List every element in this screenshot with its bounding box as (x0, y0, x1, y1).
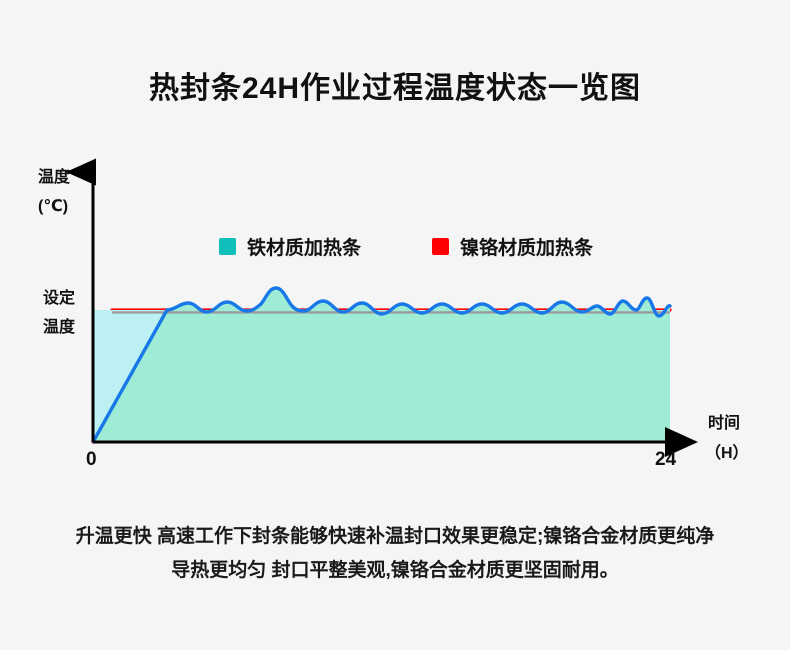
x-axis-label: 时间 (708, 413, 740, 432)
page-title: 热封条24H作业过程温度状态一览图 (0, 63, 790, 107)
legend-item-iron[interactable]: 铁材质加热条 (219, 236, 362, 259)
chart-plot-area: 温度 (℃) 设定 温度 0 24 时间 （H） 铁材质加热条 镍铬材质加热条 (0, 140, 790, 490)
legend-label-iron: 铁材质加热条 (247, 236, 362, 259)
legend-swatch-nichrome (432, 238, 449, 255)
legend-label-nichrome: 镍铬材质加热条 (460, 236, 594, 259)
legend-swatch-iron (219, 238, 236, 255)
temperature-chart-svg: 温度 (℃) 设定 温度 0 24 时间 （H） 铁材质加热条 镍铬材质加热条 (0, 140, 790, 490)
chart-caption: 升温更快 高速工作下封条能够快速补温封口效果更稳定;镍铬合金材质更纯净 导热更均… (45, 520, 745, 588)
chart-legend: 铁材质加热条 镍铬材质加热条 (219, 236, 594, 259)
y-axis-label: 温度 (37, 167, 71, 186)
legend-item-nichrome[interactable]: 镍铬材质加热条 (432, 236, 594, 259)
set-temperature-label-line1: 设定 (43, 288, 75, 307)
caption-line-1: 升温更快 高速工作下封条能够快速补温封口效果更稳定;镍铬合金材质更纯净 (45, 520, 745, 554)
x-tick-0: 0 (86, 449, 97, 470)
series-iron (93, 288, 670, 442)
y-axis-unit: (℃) (38, 198, 68, 215)
set-temperature-label-line2: 温度 (42, 317, 76, 336)
x-tick-24: 24 (655, 449, 677, 470)
caption-line-2: 导热更均匀 封口平整美观,镍铬合金材质更坚固耐用。 (45, 554, 745, 588)
x-axis-unit: （H） (705, 444, 749, 462)
